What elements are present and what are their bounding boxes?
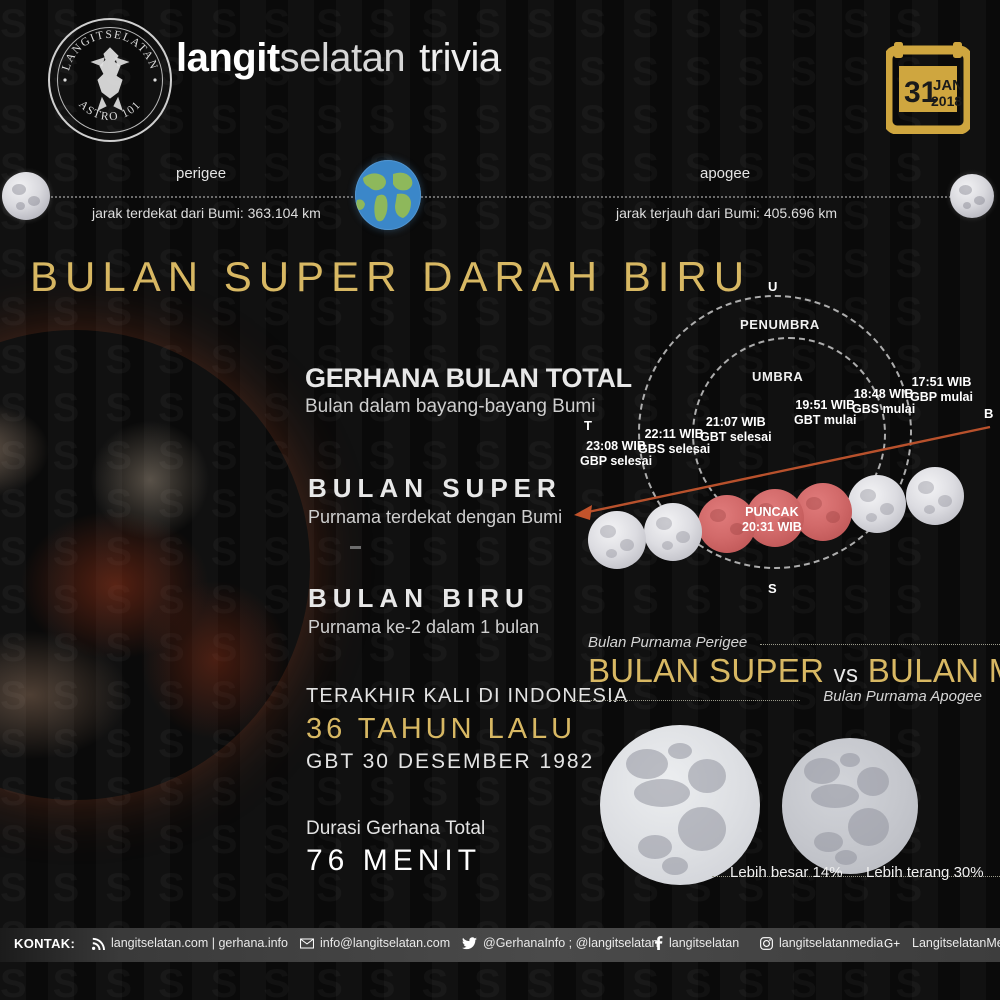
- twitter-icon: [462, 937, 477, 950]
- compare-title-right: BULAN MINI: [868, 652, 1000, 689]
- axis-label-north: U: [768, 279, 777, 294]
- phase-event: GBT mulai: [794, 413, 857, 427]
- perigee-apogee-row: perigee jarak terdekat dari Bumi: 363.10…: [0, 150, 1000, 240]
- footer-item-twitter[interactable]: @GerhanaInfo ; @langitselatan: [462, 936, 658, 950]
- compare-sub-bottom: Bulan Purnama Apogee: [823, 688, 982, 705]
- footer-item-facebook[interactable]: langitselatan: [654, 936, 739, 950]
- phase-time: 18:48 WIB: [854, 387, 914, 401]
- duration-value: 76 MENIT: [306, 844, 485, 878]
- super-vs-mini-section: Bulan Purnama Perigee BULAN SUPER vs BUL…: [570, 630, 1000, 895]
- apogee-moon-icon: [950, 174, 994, 218]
- duration-label: Durasi Gerhana Total: [306, 818, 485, 840]
- feature-bulan-super: BULAN SUPER Purnama terdekat dengan Bumi: [308, 473, 562, 528]
- brand-light: selatan: [280, 36, 405, 80]
- svg-text:G+: G+: [884, 937, 900, 950]
- feature-sub: Purnama terdekat dengan Bumi: [308, 507, 562, 528]
- phase-event: GBT selesai: [700, 430, 772, 444]
- feature-bulan-biru: BULAN BIRU Purnama ke-2 dalam 1 bulan: [308, 583, 539, 638]
- footer-kontak-label: KONTAK:: [14, 936, 75, 951]
- footer-item-instagram[interactable]: langitselatanmedia: [760, 936, 883, 950]
- supermoon-image: [600, 725, 760, 885]
- eclipse-moon-2308: [588, 511, 646, 569]
- feature-heading: BULAN SUPER: [308, 473, 562, 504]
- duration-block: Durasi Gerhana Total 76 MENIT: [306, 818, 485, 878]
- facebook-icon: [654, 936, 663, 950]
- feature-heading: BULAN BIRU: [308, 583, 539, 614]
- peak-text: PUNCAK: [745, 505, 798, 519]
- peak-label: PUNCAK 20:31 WIB: [742, 505, 802, 535]
- minimoon-image: [782, 738, 918, 874]
- footer-item-website[interactable]: langitselatan.com | gerhana.info: [92, 936, 288, 950]
- phase-label-1848: 18:48 WIB GBS mulai: [852, 387, 915, 417]
- eclipse-moon-1751: [906, 467, 964, 525]
- calendar-month: JAN: [933, 77, 963, 94]
- footer-item-text: LangitselatanMedia: [912, 936, 1000, 950]
- compare-title-vs: vs: [834, 661, 859, 688]
- pct-bright-label: Lebih terang 30%: [866, 864, 984, 881]
- phase-label-2107: 21:07 WIB GBT selesai: [700, 415, 772, 445]
- perigee-detail: jarak terdekat dari Bumi: 363.104 km: [92, 205, 321, 221]
- compare-dash-bottom: [570, 700, 800, 701]
- calendar-year: 2018: [931, 93, 962, 109]
- phase-time: 21:07 WIB: [706, 415, 766, 429]
- footer-item-email[interactable]: info@langitselatan.com: [300, 936, 450, 950]
- footer-item-text: info@langitselatan.com: [320, 936, 450, 950]
- perigee-dotted-line: [40, 196, 360, 198]
- header: LANGITSELATAN ASTRO 101 langitselatantri…: [0, 0, 1000, 150]
- svg-text:ASTRO 101: ASTRO 101: [76, 99, 144, 124]
- phase-time: 17:51 WIB: [912, 375, 972, 389]
- axis-label-south: S: [768, 581, 777, 596]
- phase-label-1751: 17:51 WIB GBP mulai: [910, 375, 973, 405]
- footer-item-googleplus[interactable]: G+ LangitselatanMedia: [884, 936, 1000, 950]
- earth-icon: [355, 160, 421, 230]
- googleplus-icon: G+: [884, 937, 906, 950]
- apogee-label: apogee: [700, 165, 750, 182]
- calendar-icon: 31 JAN 2018: [886, 30, 970, 134]
- perigee-moon-icon: [2, 172, 50, 220]
- footer-item-text: langitselatanmedia: [779, 936, 883, 950]
- phase-event: GBS mulai: [852, 402, 915, 416]
- instagram-icon: [760, 937, 773, 950]
- penumbra-label: PENUMBRA: [740, 317, 820, 332]
- apogee-detail: jarak terjauh dari Bumi: 405.696 km: [616, 205, 837, 221]
- langitselatan-logo-icon: LANGITSELATAN ASTRO 101: [48, 18, 172, 142]
- axis-label-east: T: [584, 418, 592, 433]
- axis-label-west: B: [984, 406, 993, 421]
- phase-event: GBP mulai: [910, 390, 973, 404]
- compare-sub-top: Bulan Purnama Perigee: [588, 634, 747, 651]
- compare-title: BULAN SUPER vs BULAN MINI: [588, 652, 1000, 690]
- peak-time: 20:31 WIB: [742, 520, 802, 534]
- eclipse-moon-1848: [848, 475, 906, 533]
- compare-title-left: BULAN SUPER: [588, 652, 824, 689]
- eclipse-moon-2211: [644, 503, 702, 561]
- brand-wordmark: langitselatantrivia: [176, 36, 501, 81]
- phase-label-1951: 19:51 WIB GBT mulai: [794, 398, 857, 428]
- apogee-dotted-line: [418, 196, 966, 198]
- perigee-label: perigee: [176, 165, 226, 182]
- logo-artwork: LANGITSELATAN ASTRO 101: [48, 18, 172, 142]
- eclipse-diagram: U S T B PENUMBRA UMBRA: [560, 275, 1000, 615]
- rss-icon: [92, 937, 105, 950]
- footer-item-text: langitselatan: [669, 936, 739, 950]
- phase-time: 22:11 WIB: [645, 427, 704, 441]
- footer-item-text: langitselatan.com | gerhana.info: [111, 936, 288, 950]
- brand-bold: langit: [176, 36, 280, 80]
- infographic-poster: SSSSSSSSSSSSSSSSSSSSSSSSSSSSSSSSSSSSSSSS…: [0, 0, 1000, 1000]
- footer-item-text: @GerhanaInfo ; @langitselatan: [483, 936, 658, 950]
- pct-size-label: Lebih besar 14%: [730, 864, 843, 881]
- blood-moon-image: [0, 330, 310, 800]
- compare-dash-top: [760, 644, 1000, 645]
- feature-sub: Purnama ke-2 dalam 1 bulan: [308, 617, 539, 638]
- phase-time: 23:08 WIB: [586, 439, 646, 453]
- section-divider-dash: [350, 546, 361, 549]
- envelope-icon: [300, 938, 314, 949]
- phase-time: 19:51 WIB: [795, 398, 855, 412]
- umbra-label: UMBRA: [752, 369, 803, 384]
- brand-trivia: trivia: [419, 36, 500, 80]
